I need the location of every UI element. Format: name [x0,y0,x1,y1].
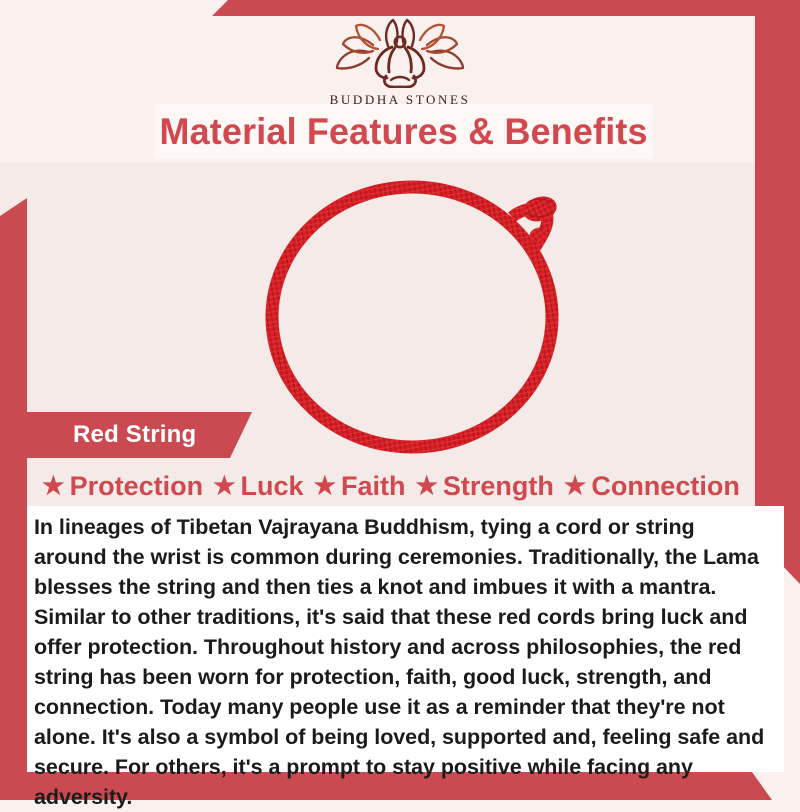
infographic-page: BUDDHA STONES Material Features & Benefi… [0,0,800,800]
star-icon: ★ [564,474,586,499]
benefit-label: Faith [341,471,406,502]
benefit-item: ★ Connection [559,471,745,502]
benefit-label: Connection [591,471,740,502]
star-icon: ★ [314,474,336,499]
star-icon: ★ [415,474,437,499]
benefit-label: Strength [443,471,554,502]
benefit-item: ★ Protection [37,471,208,502]
brand-logo: BUDDHA STONES [0,18,800,108]
benefit-item: ★ Faith [309,471,411,502]
product-label-text: Red String [73,421,196,449]
page-title: Material Features & Benefits [155,104,653,159]
benefit-label: Luck [241,471,304,502]
star-icon: ★ [42,474,64,499]
left-red-accent-bar [0,198,27,800]
description-text: In lineages of Tibetan Vajrayana Buddhis… [34,512,770,812]
page-title-text: Material Features & Benefits [160,111,648,153]
star-icon: ★ [213,474,235,499]
product-label-ribbon: Red String [27,412,252,458]
description-card: In lineages of Tibetan Vajrayana Buddhis… [27,506,784,772]
lotus-meditating-figure-icon [331,18,469,88]
product-image [250,165,610,455]
benefit-label: Protection [70,471,204,502]
benefit-item: ★ Strength [410,471,558,502]
benefits-list: ★ Protection ★ Luck ★ Faith ★ Strength ★… [27,466,755,506]
benefit-item: ★ Luck [208,471,308,502]
